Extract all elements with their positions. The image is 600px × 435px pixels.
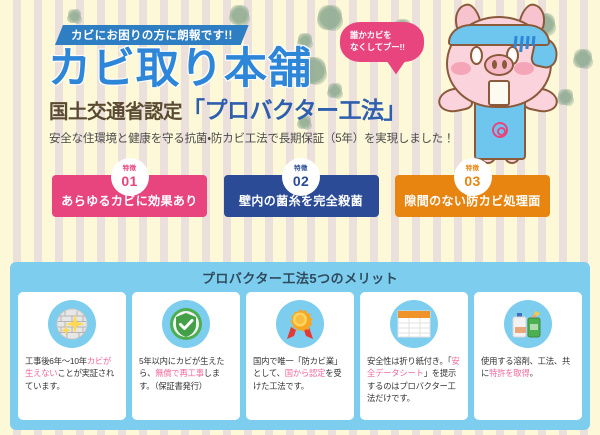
merit-card[interactable]: 工事後6年～10年カビが生えないことが実証されています。 — [18, 292, 126, 420]
feature-badge-03: 特徴 03 — [454, 158, 492, 196]
mold-spore-icon — [232, 8, 247, 23]
data-table-icon — [390, 300, 438, 348]
merit-card[interactable]: 国内で唯一「防カビ業」として、国から認定を受けた工法です。 — [246, 292, 354, 420]
badge-number: 01 — [121, 174, 137, 188]
mold-spore-icon — [320, 8, 340, 28]
feature-box-03[interactable]: 特徴 03 隙間のない防カビ処理面 — [395, 175, 550, 217]
apron-logo-icon — [492, 122, 508, 138]
pig-cheek-right-icon — [514, 62, 534, 75]
badge-label: 特徴 — [294, 166, 308, 173]
merit-card-text: 5年以内にカビが生えたら、無償で再工事します。（保証書発行） — [139, 355, 233, 392]
pig-bandana-icon — [448, 24, 550, 46]
pig-eye-left-icon — [470, 46, 483, 65]
brick-wall-sparkle-icon — [48, 300, 96, 348]
merit-card-list: 工事後6年～10年カビが生えないことが実証されています。 5年以内にカビが生えた… — [10, 292, 590, 420]
speech-line-2: なくしてブー!! — [350, 41, 424, 53]
merits-title: プロバクター工法5つのメリット — [10, 262, 590, 292]
pig-snout-icon — [484, 54, 514, 76]
merit-text-segment: 工事後6年～10年 — [25, 356, 87, 366]
pig-nostril-right-icon — [502, 60, 507, 69]
merit-card-text: 使用する溶剤、工法、共に特許を取得。 — [481, 355, 575, 380]
badge-number: 02 — [293, 174, 309, 188]
feature-badge-02: 特徴 02 — [282, 158, 320, 196]
sub-title-prefix: 国土交通省認定 — [49, 101, 182, 123]
feature-box-01[interactable]: 特徴 01 あらゆるカビに効果あり — [52, 175, 207, 217]
merit-card-text: 安全性は折り紙付き。「安全データシート」を提示するのはプロバクター工法だけです。 — [367, 355, 461, 405]
merit-text-highlight: 無償で再工事 — [155, 368, 204, 378]
page-root: カビにお困りの方に朗報です!! カビ取り本舗 国土交通省認定「プロバクター工法」… — [0, 0, 600, 435]
badge-label: 特徴 — [123, 166, 137, 173]
sub-title: 国土交通省認定「プロバクター工法」 — [49, 99, 406, 123]
pig-mascot-icon — [432, 2, 584, 162]
feature-box-02[interactable]: 特徴 02 壁内の菌糸を完全殺菌 — [224, 175, 379, 217]
merit-text-highlight: 特許を取得 — [489, 368, 530, 378]
speech-line-1: 誰かカビを — [350, 29, 424, 41]
merit-card[interactable]: 5年以内にカビが生えたら、無償で再工事します。（保証書発行） — [132, 292, 240, 420]
merit-card-text: 工事後6年～10年カビが生えないことが実証されています。 — [25, 355, 119, 392]
merit-card[interactable]: 使用する溶剤、工法、共に特許を取得。 — [474, 292, 582, 420]
merit-card-text: 国内で唯一「防カビ業」として、国から認定を受けた工法です。 — [253, 355, 347, 392]
ribbon-banner: カビにお困りの方に朗報です!! — [55, 25, 249, 45]
merit-card[interactable]: 安全性は折り紙付き。「安全データシート」を提示するのはプロバクター工法だけです。 — [360, 292, 468, 420]
pig-cheek-left-icon — [451, 62, 471, 75]
pig-mouth-icon — [488, 80, 510, 106]
badge-label: 特徴 — [466, 166, 480, 173]
feature-box-list: 特徴 01 あらゆるカビに効果あり 特徴 02 壁内の菌糸を完全殺菌 特徴 03… — [52, 175, 550, 217]
page-title: カビ取り本舗 — [48, 48, 312, 91]
merit-text-segment: 安全性は折り紙付き。「 — [367, 356, 452, 366]
gold-medal-ribbon-icon — [276, 300, 324, 348]
mold-spore-icon — [330, 86, 340, 96]
lead-copy: 安全な住環境と健康を守る抗菌・防カビ工法で長期保証（5年）を実現しました！ — [49, 130, 454, 146]
merit-text-highlight: 国から認定 — [285, 368, 326, 378]
badge-number: 03 — [464, 174, 480, 188]
pig-nostril-left-icon — [492, 60, 497, 69]
merits-panel: プロバクター工法5つのメリット — [10, 262, 590, 430]
merit-text-segment: 。 — [530, 368, 538, 378]
sub-title-highlight: 「プロバクター工法」 — [182, 97, 406, 123]
mold-spore-icon — [70, 12, 79, 21]
mascot-speech-bubble: 誰かカビを なくしてブー!! — [340, 22, 424, 62]
cleaning-bottles-icon — [504, 300, 552, 348]
green-shield-check-icon — [162, 300, 210, 348]
feature-badge-01: 特徴 01 — [111, 158, 149, 196]
